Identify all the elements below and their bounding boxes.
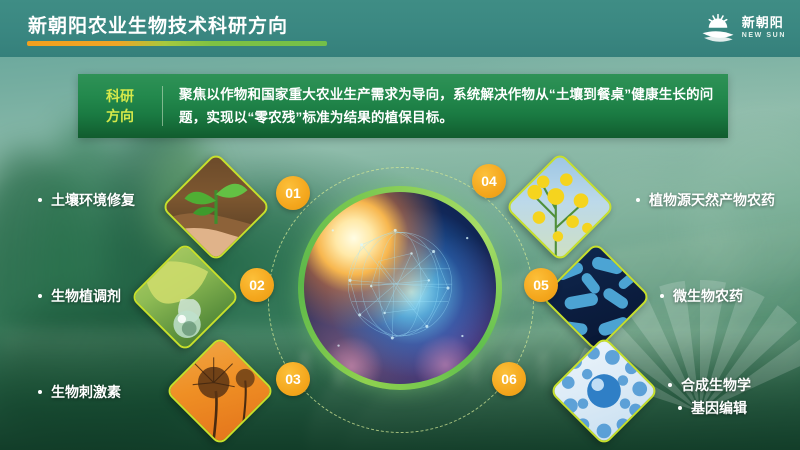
badge-06[interactable]: 06: [492, 362, 526, 396]
label-text: 生物刺激素: [51, 382, 121, 402]
header-bar: 新朝阳农业生物技术科研方向 新朝阳 NEW SUN: [0, 0, 800, 57]
label-text: 基因编辑: [691, 398, 747, 418]
sun-field-logo-icon: [701, 12, 735, 42]
statement-banner: 科研 方向 聚焦以作物和国家重大农业生产需求为导向，系统解决作物从“土壤到餐桌”…: [78, 74, 728, 138]
bullet-dot: [636, 198, 640, 202]
badge-02[interactable]: 02: [240, 268, 274, 302]
brand-logo: 新朝阳 NEW SUN: [701, 12, 786, 42]
badge-04[interactable]: 04: [472, 164, 506, 198]
slide-root: 新朝阳农业生物技术科研方向 新朝阳 NEW SUN: [0, 0, 800, 450]
badge-01[interactable]: 01: [276, 176, 310, 210]
bullet-dot: [660, 294, 664, 298]
page-title: 新朝阳农业生物技术科研方向: [28, 11, 288, 38]
hands-silhouette: [319, 307, 480, 384]
badge-05[interactable]: 05: [524, 268, 558, 302]
badge-03[interactable]: 03: [276, 362, 310, 396]
bullet-dot: [38, 294, 42, 298]
banner-tag-line1: 科研: [78, 86, 162, 106]
logo-text-en: NEW SUN: [742, 32, 786, 39]
bullet-dot: [38, 198, 42, 202]
label-text: 生物植调剂: [51, 286, 121, 306]
label-biostimulant[interactable]: 生物刺激素: [38, 382, 121, 402]
bullet-dot: [678, 406, 682, 410]
banner-tag-line2: 方向: [78, 106, 162, 126]
label-botanical-pesticide[interactable]: 植物源天然产物农药: [636, 190, 775, 210]
logo-text-cn: 新朝阳: [742, 16, 786, 29]
center-globe-ring: [298, 186, 502, 390]
bullet-dot: [38, 390, 42, 394]
banner-text: 聚焦以作物和国家重大农业生产需求为导向，系统解决作物从“土壤到餐桌”健康生长的问…: [163, 83, 728, 129]
label-text: 微生物农药: [673, 286, 743, 306]
label-text: 土壤环境修复: [51, 190, 135, 210]
label-bio-regulator[interactable]: 生物植调剂: [38, 286, 121, 306]
label-synthetic-biology[interactable]: 合成生物学: [668, 375, 751, 395]
banner-tag: 科研 方向: [78, 86, 162, 126]
label-text: 合成生物学: [681, 375, 751, 395]
label-text: 植物源天然产物农药: [649, 190, 775, 210]
label-soil-restoration[interactable]: 土壤环境修复: [38, 190, 135, 210]
bullet-dot: [668, 383, 672, 387]
label-microbial-pesticide[interactable]: 微生物农药: [660, 286, 743, 306]
center-globe-image: [304, 192, 496, 384]
title-underline: [27, 41, 327, 46]
label-gene-editing[interactable]: 基因编辑: [678, 398, 747, 418]
